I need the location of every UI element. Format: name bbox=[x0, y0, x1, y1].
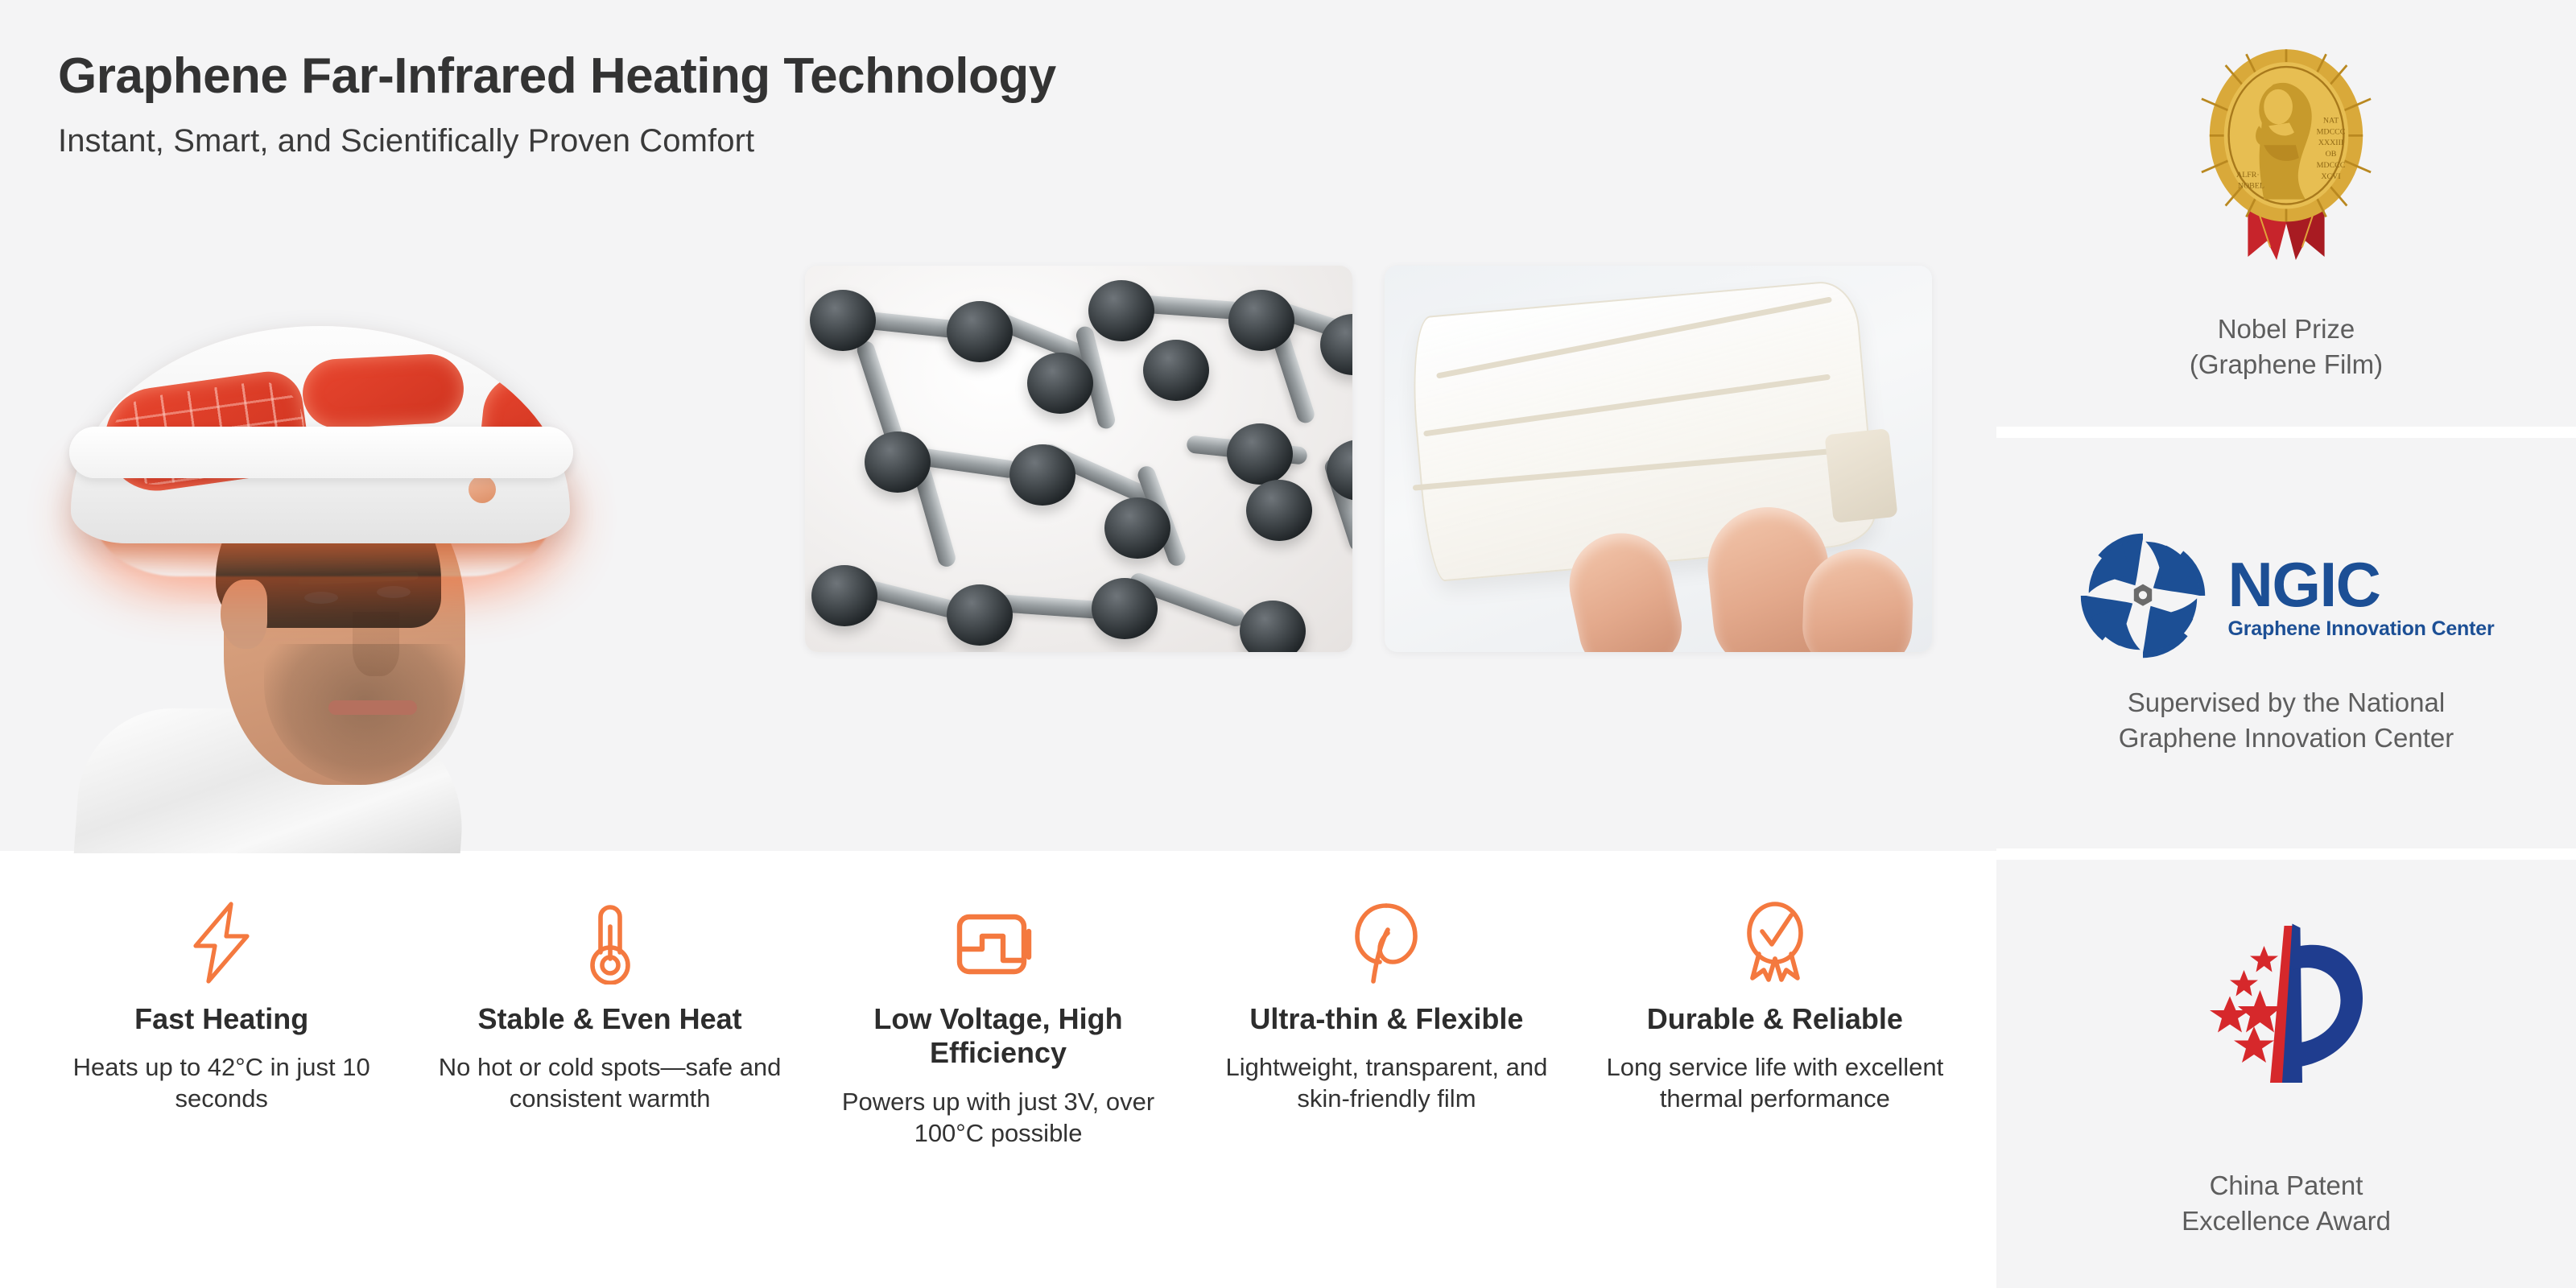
model-wearing-heating-helmet-image: TOUCHBeauty bbox=[63, 266, 626, 853]
nobel-medal-icon: ALFR· NOBEL NAT MDCCC XXXIII OB MDCCC XC… bbox=[2194, 45, 2379, 291]
hero-image-row: TOUCHBeauty bbox=[0, 242, 1996, 851]
lattice-atom bbox=[1092, 578, 1158, 639]
hero-section: Graphene Far-Infrared Heating Technology… bbox=[0, 0, 1996, 851]
lattice-atom bbox=[1246, 480, 1312, 541]
lattice-atom bbox=[1027, 353, 1093, 414]
svg-text:MDCCC: MDCCC bbox=[2317, 127, 2346, 136]
lattice-atom bbox=[1088, 280, 1154, 341]
helmet-band bbox=[69, 427, 573, 478]
svg-text:ALFR·: ALFR· bbox=[2236, 171, 2260, 180]
sidebar-card-nobel-prize: ALFR· NOBEL NAT MDCCC XXXIII OB MDCCC XC… bbox=[1996, 0, 2576, 427]
feature-title: Low Voltage, High Efficiency bbox=[812, 1002, 1184, 1071]
film-contact-tab bbox=[1824, 428, 1897, 523]
leaf-icon bbox=[1352, 901, 1421, 985]
svg-text:XXXIII: XXXIII bbox=[2318, 138, 2343, 147]
lattice-atom bbox=[947, 301, 1013, 362]
feature-description: Lightweight, transparent, and skin-frien… bbox=[1200, 1052, 1572, 1115]
lightning-bolt-icon bbox=[183, 901, 260, 985]
ngic-logo-icon bbox=[2079, 531, 2207, 664]
lattice-atom bbox=[947, 584, 1013, 646]
sidebar-caption: Supervised by the National Graphene Inno… bbox=[2119, 685, 2454, 755]
model-ear bbox=[221, 580, 267, 649]
feature-title: Ultra-thin & Flexible bbox=[1249, 1002, 1523, 1036]
caption-line-1: China Patent bbox=[2210, 1170, 2363, 1200]
ngic-tagline: Graphene Innovation Center bbox=[2228, 617, 2495, 641]
helmet-power-button bbox=[469, 476, 496, 503]
caption-line-1: Nobel Prize bbox=[2218, 314, 2355, 344]
feature-low-voltage: Low Voltage, High Efficiency Powers up w… bbox=[804, 901, 1192, 1149]
ngic-word: NGIC bbox=[2228, 555, 2495, 614]
certification-sidebar: ALFR· NOBEL NAT MDCCC XXXIII OB MDCCC XC… bbox=[1996, 0, 2576, 1288]
sidebar-card-china-patent: China Patent Excellence Award bbox=[1996, 860, 2576, 1288]
page-title: Graphene Far-Infrared Heating Technology bbox=[58, 50, 1996, 102]
caption-line-1: Supervised by the National bbox=[2128, 687, 2445, 717]
feature-fast-heating: Fast Heating Heats up to 42°C in just 10… bbox=[27, 901, 415, 1115]
model-eye-right bbox=[377, 586, 411, 598]
main-column: Graphene Far-Infrared Heating Technology… bbox=[0, 0, 1996, 1288]
helmet-panel-2 bbox=[301, 353, 465, 430]
china-patent-award-icon bbox=[2178, 910, 2395, 1147]
feature-durable-reliable: Durable & Reliable Long service life wit… bbox=[1581, 901, 1969, 1115]
feature-description: Powers up with just 3V, over 100°C possi… bbox=[812, 1087, 1184, 1150]
feature-description: Heats up to 42°C in just 10 seconds bbox=[35, 1052, 407, 1115]
feature-title: Durable & Reliable bbox=[1647, 1002, 1903, 1036]
lattice-atom bbox=[1227, 423, 1293, 485]
graphene-lattice-image bbox=[805, 266, 1352, 652]
svg-text:NAT: NAT bbox=[2323, 116, 2339, 125]
model-mouth bbox=[328, 700, 417, 715]
feature-description: Long service life with excellent thermal… bbox=[1589, 1052, 1961, 1115]
ngic-wordmark: NGIC Graphene Innovation Center bbox=[2228, 555, 2495, 641]
feature-title: Stable & Even Heat bbox=[478, 1002, 742, 1036]
sidebar-caption: China Patent Excellence Award bbox=[2182, 1168, 2391, 1238]
thermometer-icon bbox=[580, 901, 640, 985]
model-eye-left bbox=[304, 592, 338, 604]
lattice-atom bbox=[810, 290, 876, 351]
svg-text:OB: OB bbox=[2326, 150, 2337, 159]
battery-bolt-icon bbox=[955, 901, 1042, 985]
caption-line-2: Excellence Award bbox=[2182, 1203, 2391, 1239]
feature-title: Fast Heating bbox=[134, 1002, 308, 1036]
award-check-icon bbox=[1737, 901, 1813, 985]
sidebar-caption: Nobel Prize (Graphene Film) bbox=[2190, 312, 2383, 382]
caption-line-2: Graphene Innovation Center bbox=[2119, 720, 2454, 756]
lattice-atom bbox=[811, 565, 877, 626]
lattice-atom bbox=[1143, 340, 1209, 401]
feature-ultra-thin-flexible: Ultra-thin & Flexible Lightweight, trans… bbox=[1192, 901, 1580, 1115]
lattice-atom bbox=[1009, 444, 1075, 506]
lattice-atom bbox=[1104, 497, 1170, 559]
infographic-page: Graphene Far-Infrared Heating Technology… bbox=[0, 0, 2576, 1288]
page-subtitle: Instant, Smart, and Scientifically Prove… bbox=[58, 123, 1996, 159]
flexible-graphene-film-image bbox=[1385, 266, 1932, 652]
feature-description: No hot or cold spots—safe and consistent… bbox=[423, 1052, 795, 1115]
feature-strip: Fast Heating Heats up to 42°C in just 10… bbox=[0, 851, 1996, 1288]
lattice-atom bbox=[1228, 290, 1294, 351]
feature-stable-even-heat: Stable & Even Heat No hot or cold spots—… bbox=[415, 901, 803, 1115]
lattice-atom bbox=[865, 431, 931, 493]
sidebar-card-ngic: NGIC Graphene Innovation Center Supervis… bbox=[1996, 438, 2576, 848]
svg-text:NOBEL: NOBEL bbox=[2238, 182, 2264, 191]
ngic-logo-lockup: NGIC Graphene Innovation Center bbox=[2079, 531, 2495, 664]
caption-line-2: (Graphene Film) bbox=[2190, 347, 2383, 382]
svg-text:XCVI: XCVI bbox=[2321, 172, 2340, 181]
svg-text:MDCCC: MDCCC bbox=[2317, 161, 2346, 170]
